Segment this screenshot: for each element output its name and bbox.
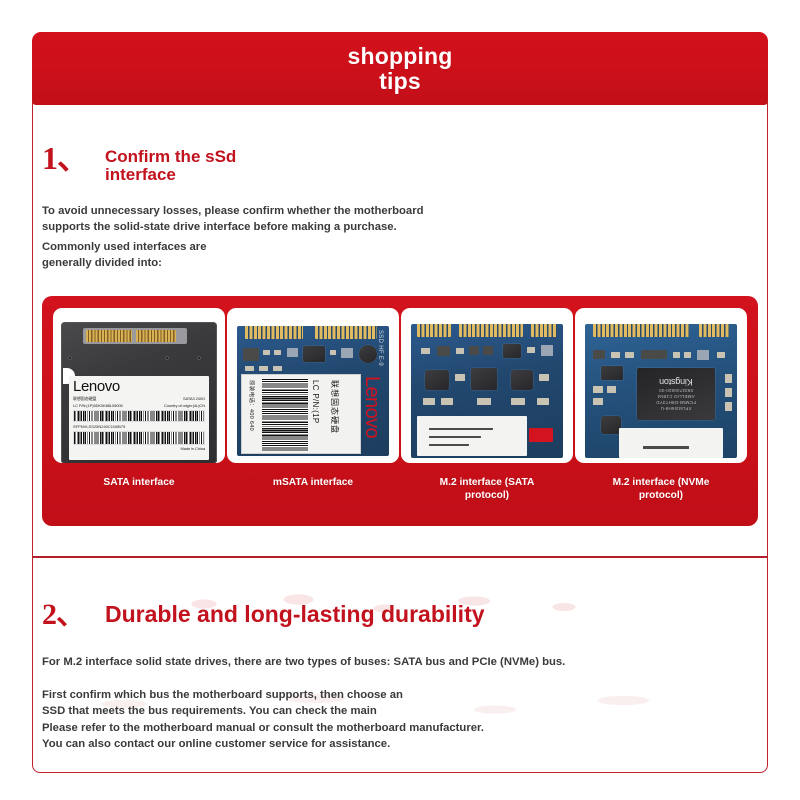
m2-nvme-component-5 bbox=[673, 352, 680, 358]
msata-pcb: 原装电话：400 640 LC P/N:(1P 联想固态硬盘 Lenovo SS… bbox=[237, 326, 389, 456]
nand-chip-line-1: XFL6I3I6H9-U bbox=[660, 406, 691, 411]
msata-component-2 bbox=[263, 350, 270, 355]
m2-sata-fingers-a bbox=[417, 324, 451, 337]
msata-lenovo-wordmark: Lenovo bbox=[360, 376, 383, 438]
m2-sata-component-2 bbox=[437, 346, 450, 356]
m2-sata-component-8 bbox=[455, 374, 465, 381]
m2-sata-component-9 bbox=[539, 374, 549, 381]
sata-ssd-label: Lenovo 联想固态硬盘 SATA3 240G LC P/N:(1P)5DK0… bbox=[69, 376, 209, 460]
m2-sata-inductor-2 bbox=[511, 370, 533, 390]
m2-nvme-fingers-a bbox=[593, 324, 689, 337]
m2-nvme-edge-pad-1 bbox=[725, 374, 732, 383]
banner-title-line2: tips bbox=[347, 69, 452, 93]
sata-label-barcode-2 bbox=[73, 431, 205, 445]
caption-m2-sata-interface: M.2 interface (SATA protocol) bbox=[440, 477, 535, 503]
section-2-paragraph-3: Please refer to the motherboard manual o… bbox=[42, 721, 662, 752]
m2-nvme-component-10 bbox=[593, 398, 603, 405]
m2-nvme-strip-line-1 bbox=[643, 446, 689, 449]
caption-msata-interface: mSATA interface bbox=[273, 477, 353, 490]
msata-label: 原装电话：400 640 LC P/N:(1P 联想固态硬盘 bbox=[241, 374, 361, 454]
section-divider bbox=[32, 556, 768, 558]
m2-nvme-edge-pad-3 bbox=[725, 402, 732, 411]
section-2-title: Durable and long-lasting durability bbox=[105, 603, 485, 627]
m2-sata-component-3 bbox=[456, 348, 464, 354]
msata-barcode bbox=[262, 379, 308, 451]
m2-nvme-pcb: XFL6I3I6H9-U FCM5B-D8HT3YD AMELLIO C18N4… bbox=[585, 324, 737, 458]
msata-part-number: LC P/N:(1P bbox=[311, 380, 320, 423]
header-banner: shopping tips bbox=[32, 32, 768, 105]
m2-nvme-component-3 bbox=[625, 352, 634, 358]
product-card-sata[interactable]: Lenovo 联想固态硬盘 SATA3 240G LC P/N:(1P)5DK0… bbox=[53, 308, 225, 526]
lenovo-wordmark: Lenovo bbox=[73, 379, 205, 394]
m2-sata-component-7 bbox=[541, 345, 553, 356]
m2-sata-red-accent bbox=[529, 428, 553, 442]
product-card-m2-nvme[interactable]: XFL6I3I6H9-U FCM5B-D8HT3YD AMELLIO C18N4… bbox=[575, 308, 747, 526]
section-1-paragraph-2: Commonly used interfaces are generally d… bbox=[42, 240, 442, 271]
m2-sata-component-4 bbox=[469, 346, 479, 355]
m2-sata-strip-line-2 bbox=[429, 436, 481, 438]
section-2-number: 2、 bbox=[42, 600, 85, 630]
msata-component-9 bbox=[273, 366, 282, 371]
msata-gold-fingers-right bbox=[315, 326, 377, 339]
m2-nvme-small-chip bbox=[601, 366, 623, 380]
m2-nvme-component-9 bbox=[593, 386, 603, 393]
msata-component-8 bbox=[259, 366, 268, 371]
sata-connector bbox=[83, 328, 187, 344]
product-image-msata: 原装电话：400 640 LC P/N:(1P 联想固态硬盘 Lenovo SS… bbox=[227, 308, 399, 463]
msata-component-4 bbox=[287, 348, 298, 357]
sata-data-pins bbox=[86, 330, 132, 342]
m2-sata-component-12 bbox=[477, 398, 491, 405]
m2-sata-component-13 bbox=[511, 398, 525, 405]
msata-hotline: 原装电话：400 640 bbox=[248, 380, 256, 431]
nand-chip-line-3: AMELLIO C18N4 bbox=[657, 394, 694, 399]
sata-label-made-in: Made in China bbox=[181, 446, 206, 451]
m2-sata-fingers-c bbox=[531, 324, 557, 337]
m2-nvme-component-7 bbox=[697, 350, 709, 360]
nand-chip-line-2: FCM5B-D8HT3YD bbox=[656, 400, 696, 405]
m2-sata-pcb bbox=[411, 324, 563, 458]
shopping-tips-infographic: shopping tips 1、 Confirm the sSd interfa… bbox=[0, 0, 800, 800]
m2-nvme-label-strip bbox=[619, 428, 723, 458]
caption-m2-nvme-interface: M.2 interface (NVMe protocol) bbox=[613, 477, 710, 503]
product-image-m2-sata bbox=[401, 308, 573, 463]
sata-label-cn-text: 联想固态硬盘 bbox=[73, 396, 96, 402]
banner-title: shopping tips bbox=[347, 44, 452, 93]
sata-label-part-number: LC P/N:(1P)5DK0K88L05005 bbox=[73, 403, 123, 408]
caption-sata-interface: SATA interface bbox=[103, 477, 174, 490]
section-1-heading: 1、 Confirm the sSd interface bbox=[42, 142, 236, 183]
product-card-m2-sata[interactable]: M.2 interface (SATA protocol) bbox=[401, 308, 573, 526]
msata-side-text: SSD HF E-9 bbox=[377, 330, 383, 366]
m2-nvme-component-8 bbox=[717, 352, 725, 358]
sata-label-serial: SFPNVLSS25N240C1N0B79 bbox=[73, 424, 205, 429]
screw-hole-mid bbox=[165, 356, 169, 360]
section-2-paragraph-2: First confirm which bus the motherboard … bbox=[42, 688, 562, 719]
m2-sata-strip-line-3 bbox=[429, 444, 469, 446]
m2-sata-fingers-b bbox=[459, 324, 523, 337]
product-card-msata[interactable]: 原装电话：400 640 LC P/N:(1P 联想固态硬盘 Lenovo SS… bbox=[227, 308, 399, 526]
section-2-heading: 2、 Durable and long-lasting durability bbox=[42, 600, 485, 630]
nand-chip-line-4: 0933740620-00 bbox=[659, 388, 693, 393]
m2-nvme-nand-chip: XFL6I3I6H9-U FCM5B-D8HT3YD AMELLIO C18N4… bbox=[637, 368, 715, 420]
msata-component-3 bbox=[274, 350, 281, 355]
screw-hole-right bbox=[197, 356, 201, 360]
m2-sata-component-10 bbox=[423, 398, 435, 405]
product-image-sata: Lenovo 联想固态硬盘 SATA3 240G LC P/N:(1P)5DK0… bbox=[53, 308, 225, 463]
m2-nvme-edge-pad-2 bbox=[725, 388, 732, 397]
sata-label-origin: Country of origin:(4L)CN bbox=[164, 403, 205, 408]
section-1-title: Confirm the sSd interface bbox=[105, 148, 236, 183]
m2-sata-component-11 bbox=[441, 398, 453, 405]
msata-component-6 bbox=[341, 348, 353, 358]
section-1-paragraph-1: To avoid unnecessary losses, please conf… bbox=[42, 204, 602, 235]
m2-nvme-component-1 bbox=[593, 350, 605, 359]
sata-power-pins bbox=[136, 330, 176, 342]
msata-component-1 bbox=[243, 348, 259, 361]
m2-sata-component-14 bbox=[537, 398, 549, 405]
screw-hole-left bbox=[68, 356, 72, 360]
msata-component-7 bbox=[245, 366, 254, 371]
m2-nvme-component-6 bbox=[684, 352, 691, 358]
msata-gold-fingers-left bbox=[245, 326, 303, 339]
product-image-m2-nvme: XFL6I3I6H9-U FCM5B-D8HT3YD AMELLIO C18N4… bbox=[575, 308, 747, 463]
m2-nvme-fingers-b bbox=[699, 324, 729, 337]
m2-nvme-component-2 bbox=[611, 352, 620, 358]
sata-ssd-body: Lenovo 联想固态硬盘 SATA3 240G LC P/N:(1P)5DK0… bbox=[61, 322, 217, 463]
m2-nvme-component-4 bbox=[641, 350, 667, 359]
section-2-paragraph-1: For M.2 interface solid state drives, th… bbox=[42, 655, 722, 671]
m2-sata-controller bbox=[471, 368, 497, 390]
msata-inductor bbox=[359, 345, 377, 363]
m2-sata-strip-line-1 bbox=[429, 428, 493, 430]
m2-sata-component-6 bbox=[527, 347, 535, 353]
m2-nvme-component-11 bbox=[607, 386, 616, 393]
m2-nvme-inductor bbox=[601, 416, 621, 434]
banner-title-line1: shopping bbox=[347, 44, 452, 68]
msata-component-5 bbox=[330, 350, 336, 355]
sata-label-spec: SATA3 240G bbox=[183, 396, 205, 402]
m2-sata-component-1 bbox=[421, 348, 430, 354]
m2-sata-component-5 bbox=[483, 346, 493, 355]
m2-sata-chip-1 bbox=[503, 344, 521, 358]
sata-label-barcode-1 bbox=[73, 410, 205, 422]
interface-types-panel: Lenovo 联想固态硬盘 SATA3 240G LC P/N:(1P)5DK0… bbox=[42, 296, 758, 526]
m2-sata-inductor-1 bbox=[425, 370, 449, 390]
msata-cn-text: 联想固态硬盘 bbox=[329, 380, 340, 434]
msata-controller-chip bbox=[303, 346, 325, 362]
section-1-number: 1、 bbox=[42, 142, 88, 174]
nand-chip-brand: Kingston bbox=[659, 377, 692, 387]
